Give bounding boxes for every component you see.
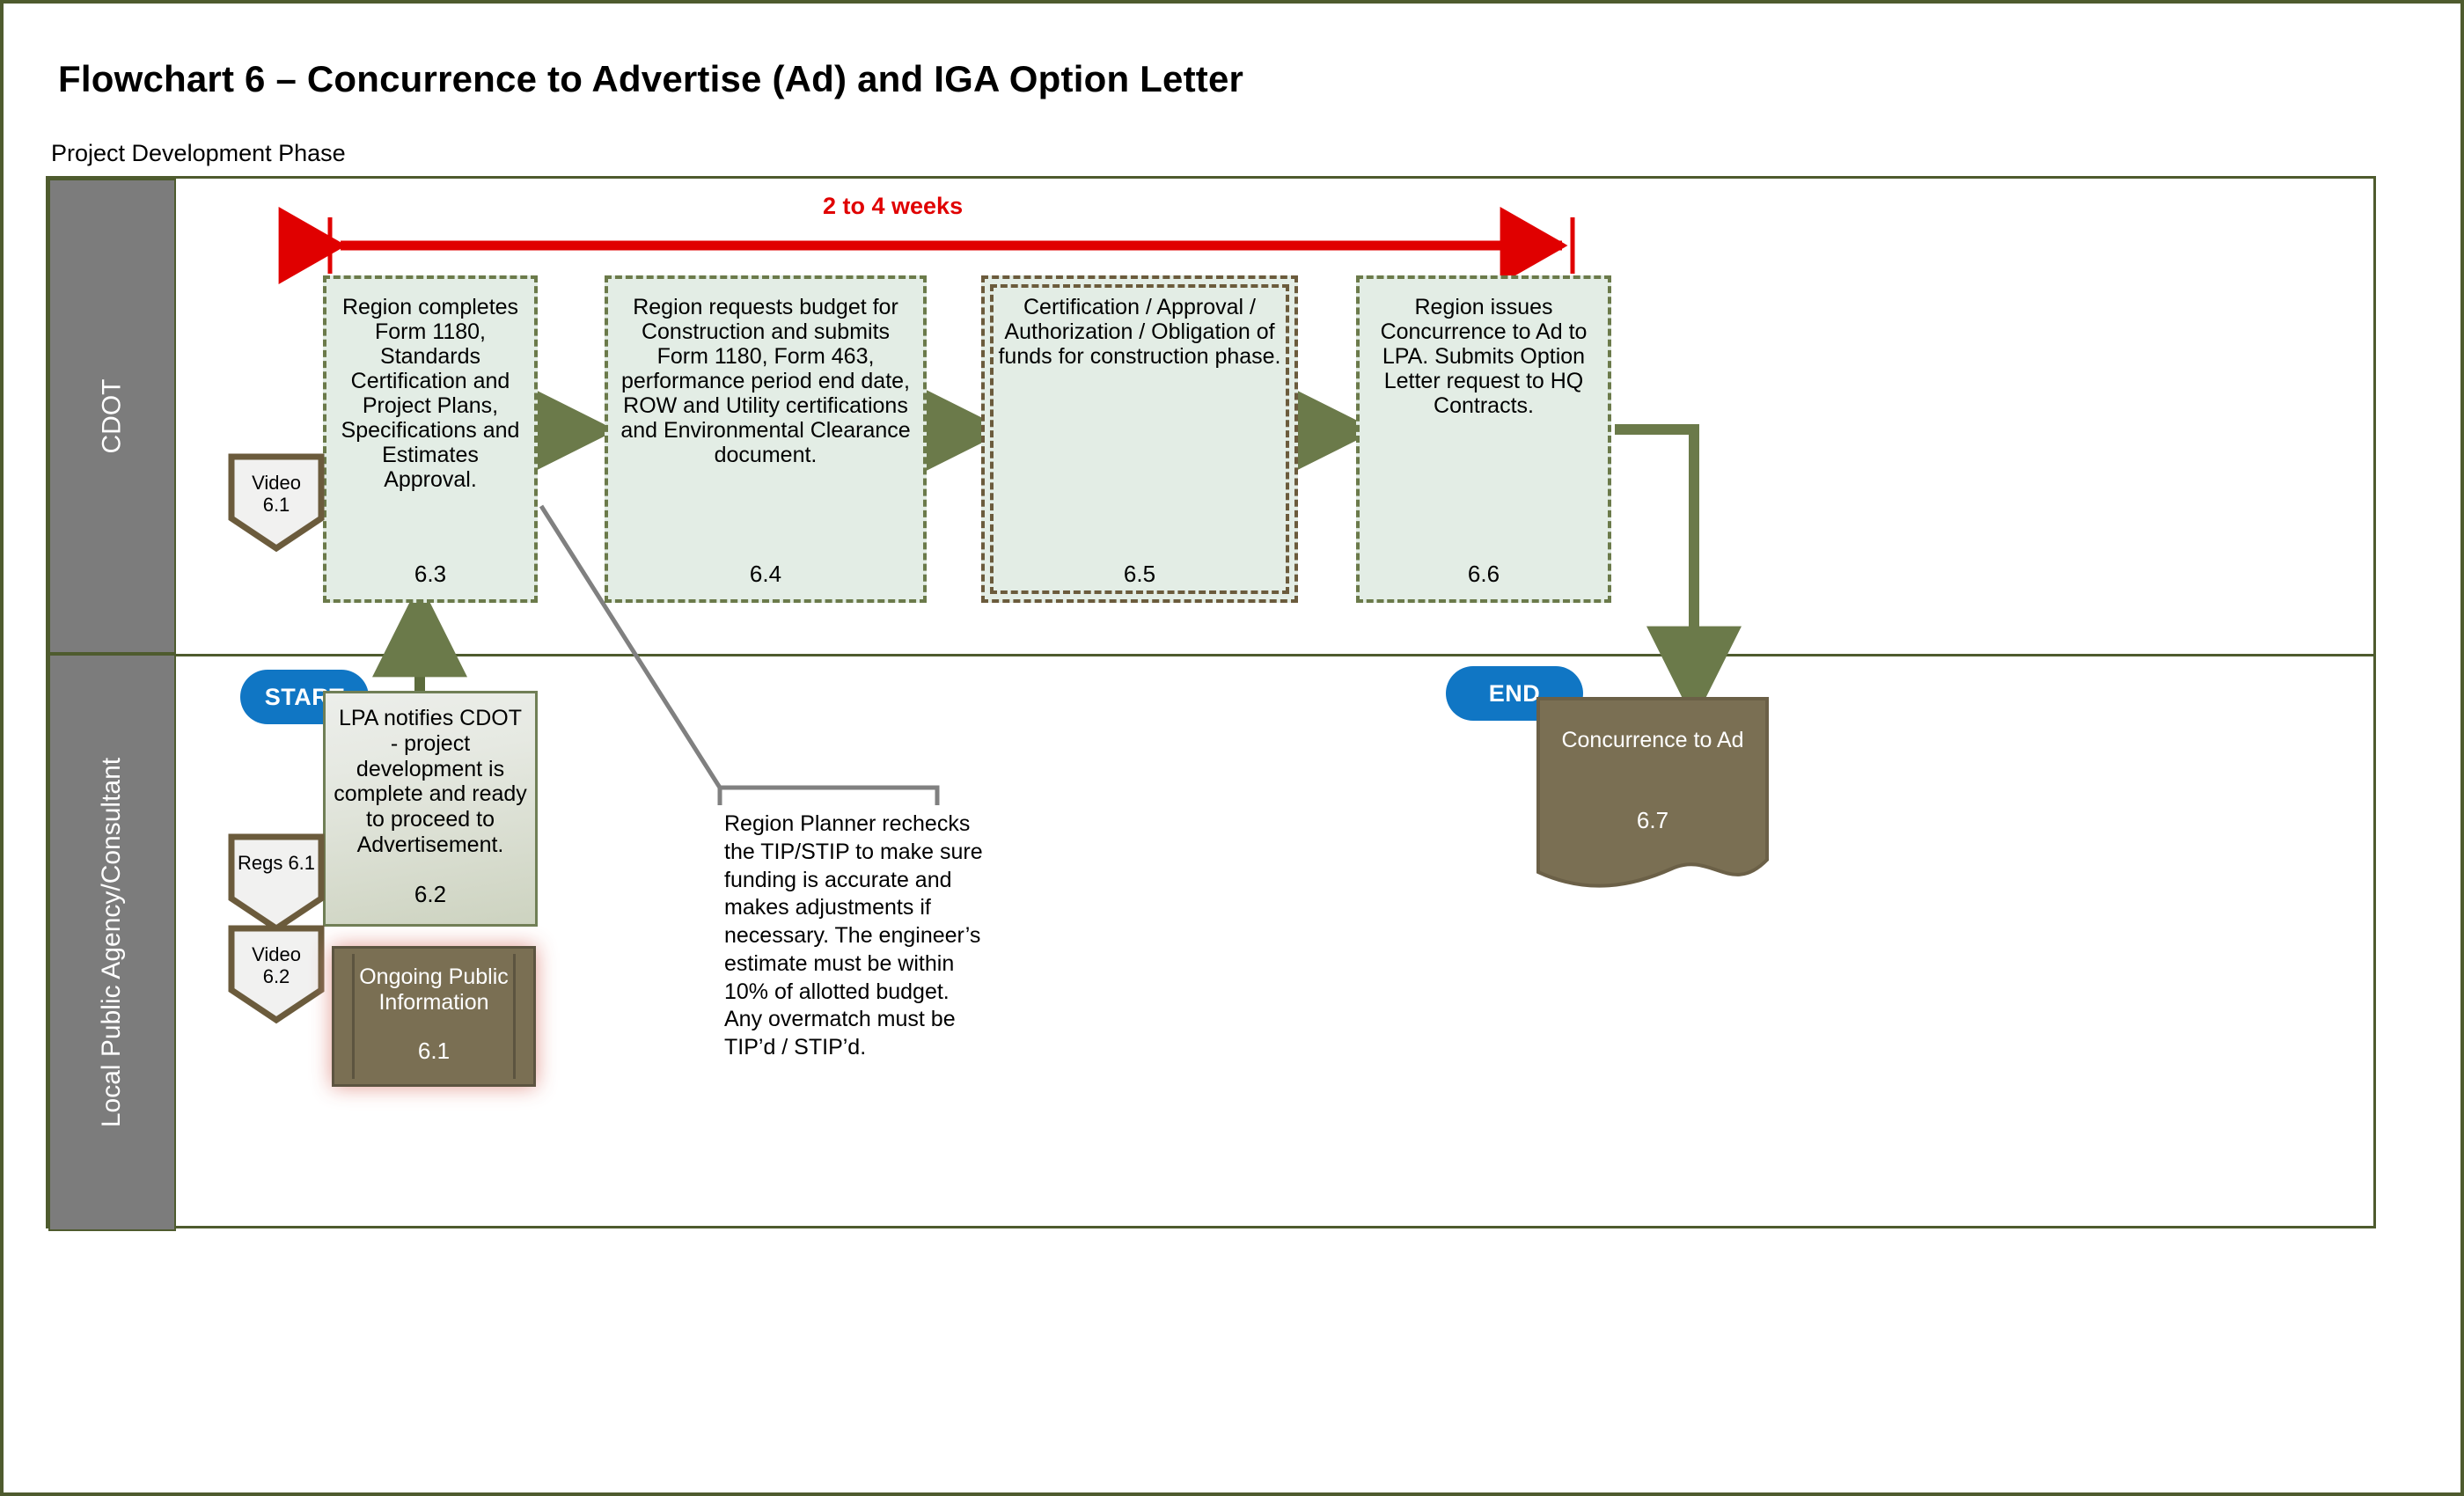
process-box-6-6-text: Region issues Concurrence to Ad to LPA. … bbox=[1381, 295, 1588, 418]
annotation-note-text: Region Planner rechecks the TIP/STIP to … bbox=[724, 811, 983, 1060]
process-box-6-5[interactable]: Certification / Approval / Authorization… bbox=[981, 275, 1298, 603]
tag-regs-6-1-label: Regs 6.1 bbox=[228, 853, 325, 875]
flowchart-page: Flowchart 6 – Concurrence to Advertise (… bbox=[0, 0, 2464, 1496]
tag-video-6-1-label: Video 6.1 bbox=[228, 473, 325, 516]
predefined-process-6-1-text: Ongoing Public Information bbox=[359, 964, 509, 1015]
process-box-6-5-number: 6.5 bbox=[985, 561, 1294, 587]
pentagon-shape bbox=[228, 833, 325, 932]
annotation-note: Region Planner rechecks the TIP/STIP to … bbox=[724, 810, 988, 1062]
tag-video-6-1[interactable]: Video 6.1 bbox=[228, 453, 325, 552]
process-box-6-2-text: LPA notifies CDOT - project development … bbox=[334, 706, 527, 857]
process-box-6-2[interactable]: LPA notifies CDOT - project development … bbox=[323, 691, 538, 927]
page-title: Flowchart 6 – Concurrence to Advertise (… bbox=[58, 58, 1243, 100]
process-box-6-3-text: Region completes Form 1180, Standards Ce… bbox=[341, 295, 520, 492]
document-6-7[interactable]: Concurrence to Ad 6.7 bbox=[1536, 696, 1770, 898]
process-box-6-4-number: 6.4 bbox=[608, 561, 923, 587]
connector-66-67 bbox=[1615, 429, 1694, 702]
predefined-process-6-1-number: 6.1 bbox=[334, 1038, 533, 1065]
tag-video-6-2[interactable]: Video 6.2 bbox=[228, 925, 325, 1023]
document-shape bbox=[1536, 696, 1770, 898]
document-6-7-number: 6.7 bbox=[1536, 807, 1770, 834]
timing-label: 2 to 4 weeks bbox=[823, 193, 963, 220]
process-box-6-4-text: Region requests budget for Construction … bbox=[620, 295, 910, 467]
process-box-6-6-number: 6.6 bbox=[1360, 561, 1608, 587]
process-box-6-4[interactable]: Region requests budget for Construction … bbox=[605, 275, 927, 603]
process-box-6-6[interactable]: Region issues Concurrence to Ad to LPA. … bbox=[1356, 275, 1611, 603]
swimlane-frame: CDOT Local Public Agency/Consultant bbox=[46, 176, 2376, 1228]
predefined-process-6-1[interactable]: Ongoing Public Information 6.1 bbox=[332, 946, 536, 1087]
process-box-6-3-number: 6.3 bbox=[326, 561, 534, 587]
process-box-6-5-text: Certification / Approval / Authorization… bbox=[998, 295, 1280, 369]
process-box-6-2-number: 6.2 bbox=[326, 882, 535, 908]
process-box-6-3[interactable]: Region completes Form 1180, Standards Ce… bbox=[323, 275, 538, 603]
predefined-process-6-1-wrapper: Ongoing Public Information 6.1 bbox=[332, 946, 536, 1087]
timing-arrow bbox=[330, 217, 1573, 274]
tag-regs-6-1[interactable]: Regs 6.1 bbox=[228, 833, 325, 932]
document-6-7-text: Concurrence to Ad bbox=[1536, 728, 1770, 753]
phase-label: Project Development Phase bbox=[51, 140, 346, 167]
tag-video-6-2-label: Video 6.2 bbox=[228, 944, 325, 987]
end-badge-label: END bbox=[1489, 680, 1541, 708]
